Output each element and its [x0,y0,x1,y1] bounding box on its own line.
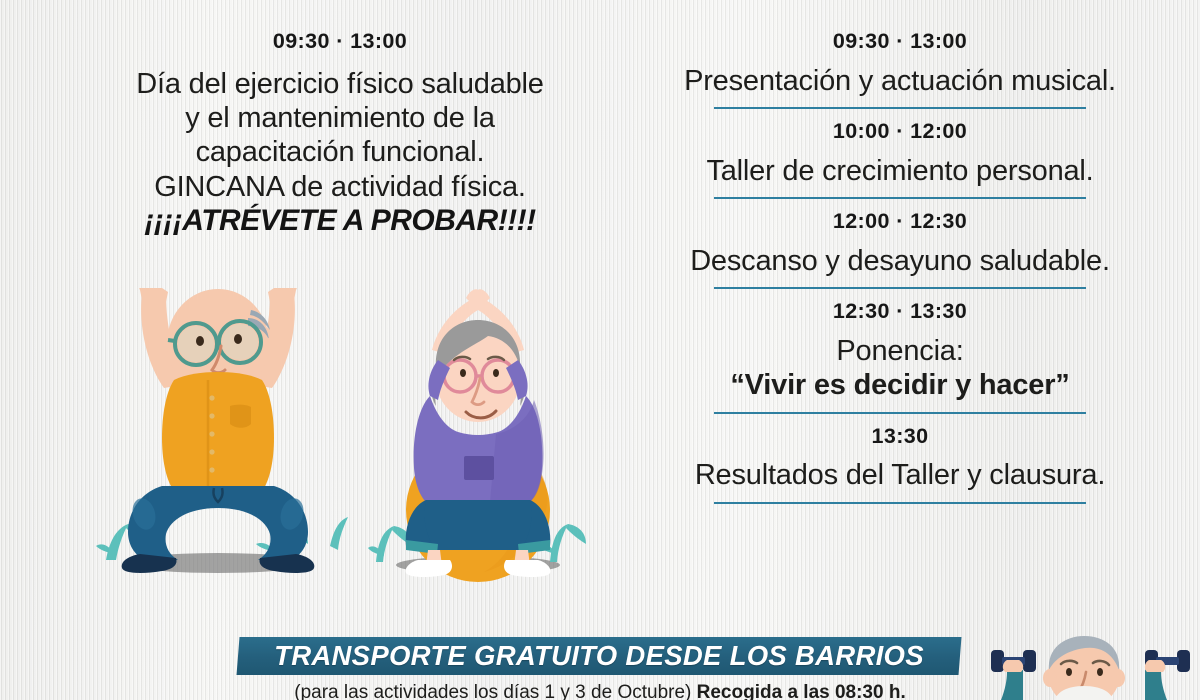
schedule-separator [714,412,1086,414]
right-column: 09:30 · 13:00 Presentación y actuación m… [620,0,1180,513]
schedule-separator [714,107,1086,109]
transport-banner-title: TRANSPORTE GRATUITO DESDE LOS BARRIOS [238,637,960,675]
schedule-desc: Taller de crecimiento personal. [620,154,1180,188]
left-desc-line-4: GINCANA de actividad física. [40,170,640,204]
transport-banner-note: (para las actividades los días 1 y 3 de … [200,682,1000,700]
poster-root: 09:30 · 13:00 Día del ejercicio físico s… [0,0,1200,700]
transport-note-bold: Recogida a las 08:30 h. [697,682,906,700]
left-desc-line-3: capacitación funcional. [40,135,640,169]
left-time: 09:30 · 13:00 [40,28,640,55]
schedule-row: 09:30 · 13:00 Presentación y actuación m… [620,28,1180,98]
elderly-man-squatting-illustration [88,288,348,588]
schedule-desc: Presentación y actuación musical. [620,64,1180,98]
schedule-time: 09:30 · 13:00 [620,28,1180,55]
schedule-list: 09:30 · 13:00 Presentación y actuación m… [620,0,1180,504]
schedule-desc: Resultados del Taller y clausura. [620,458,1180,492]
schedule-time: 10:00 · 12:00 [620,118,1180,145]
elderly-woman-on-exercise-ball-illustration [368,288,588,588]
schedule-desc: Ponencia: [620,334,1180,368]
schedule-time: 12:30 · 13:30 [620,298,1180,325]
left-column: 09:30 · 13:00 Día del ejercicio físico s… [40,0,640,238]
schedule-row: 12:00 · 12:30 Descanso y desayuno saluda… [620,208,1180,278]
schedule-time: 12:00 · 12:30 [620,208,1180,235]
transport-banner: TRANSPORTE GRATUITO DESDE LOS BARRIOS (p… [0,634,1200,700]
left-desc-line-1: Día del ejercicio físico saludable [40,67,640,101]
left-desc-line-2: y el mantenimiento de la [40,101,640,135]
left-program-block: 09:30 · 13:00 Día del ejercicio físico s… [40,0,640,238]
schedule-separator [714,287,1086,289]
schedule-row: 12:30 · 13:30 Ponencia: “Vivir es decidi… [620,298,1180,402]
schedule-time: 13:30 [620,423,1180,450]
schedule-row: 13:30 Resultados del Taller y clausura. [620,423,1180,493]
schedule-row: 10:00 · 12:00 Taller de crecimiento pers… [620,118,1180,188]
transport-note-plain: (para las actividades los días 1 y 3 de … [294,682,696,700]
schedule-separator [714,502,1086,504]
schedule-desc-quote: “Vivir es decidir y hacer” [620,368,1180,402]
schedule-desc: Descanso y desayuno saludable. [620,244,1180,278]
left-call-to-action: ¡¡¡¡ATRÉVETE A PROBAR!!!! [40,204,640,239]
schedule-separator [714,197,1086,199]
